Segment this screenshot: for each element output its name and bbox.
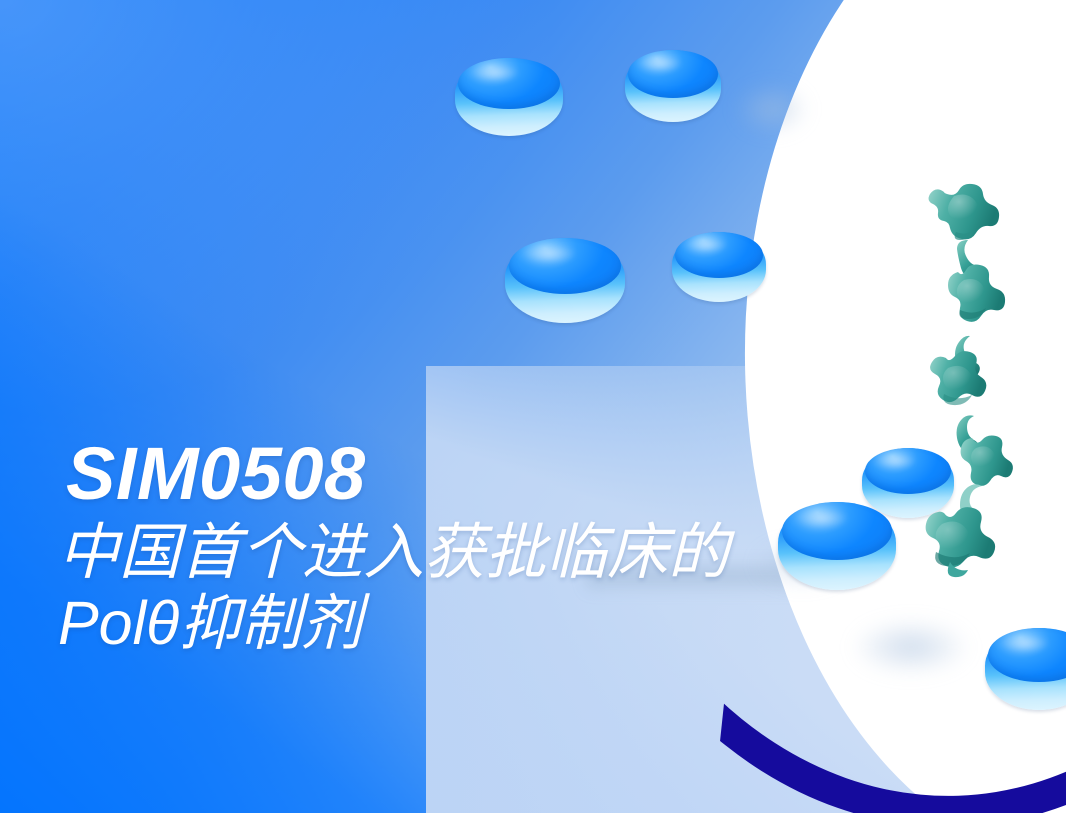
protein-ribbon-structure [898,160,1030,580]
protein-domain-bottom [926,507,996,577]
headline-line-2: Polθ抑制剂 [58,588,729,659]
pill-gloss [795,507,849,530]
product-code: SIM0508 [66,436,729,511]
headline-block: SIM0508 中国首个进入获批临床的 Polθ抑制剂 [56,436,729,659]
protein-domain-top [929,184,1000,240]
pill-tablet-6 [778,502,896,590]
poster-canvas: SIM0508 中国首个进入获批临床的 Polθ抑制剂 [0,0,1066,813]
headline-line-1: 中国首个进入获批临床的 [58,517,729,588]
protein-domain-3 [930,351,986,405]
protein-domain-4 [961,436,1013,486]
protein-domain-2 [948,265,1005,322]
